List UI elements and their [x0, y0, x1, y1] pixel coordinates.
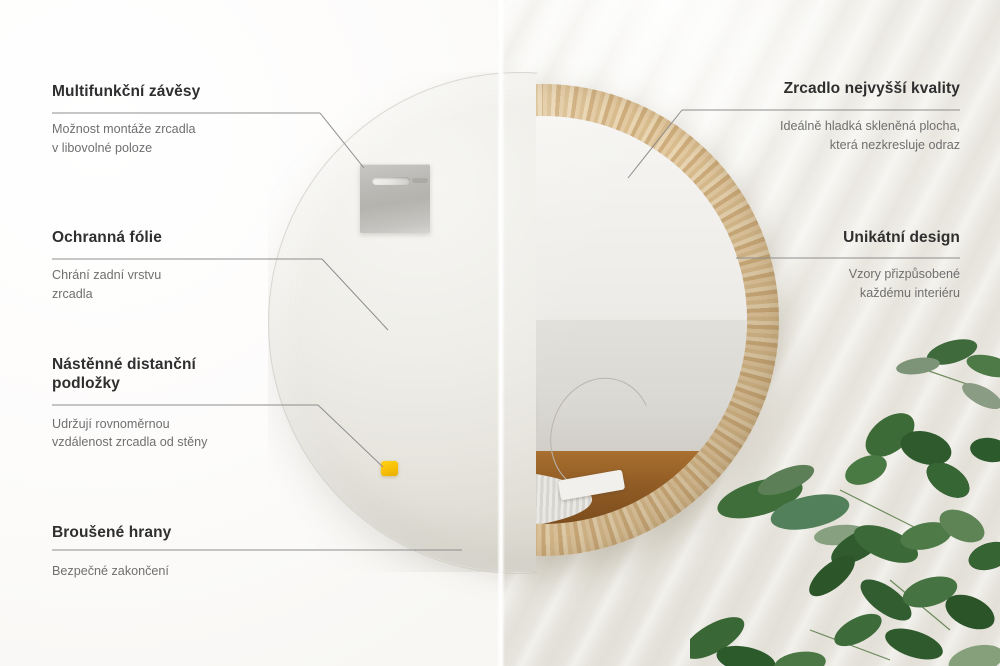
callout-body: Vzory přizpůsobené každému interiéru	[700, 265, 960, 302]
callout-body-line: zrcadla	[52, 287, 93, 301]
callout-title: Broušené hrany	[52, 523, 332, 542]
callout-body-line: která nezkresluje odraz	[830, 138, 960, 152]
callout-unikatni-design: Unikátní design Vzory přizpůsobené každé…	[700, 228, 960, 302]
callout-title: Ochranná fólie	[52, 228, 322, 247]
callout-zrcadlo-nejvyssi-kvality: Zrcadlo nejvyšší kvality Ideálně hladká …	[660, 79, 960, 154]
callout-title: Nástěnné distanční podložky	[52, 355, 332, 394]
callout-title-line: Nástěnné distanční	[52, 356, 196, 373]
callout-body: Bezpečné zakončení	[52, 562, 332, 580]
callout-body-line: Udržují rovnoměrnou	[52, 417, 170, 431]
callout-body: Ideálně hladká skleněná plocha, která ne…	[660, 117, 960, 154]
callout-body-line: Ideálně hladká skleněná plocha,	[780, 119, 960, 133]
callout-multifunkcni-zavesy: Multifunkční závěsy Možnost montáže zrca…	[52, 82, 322, 157]
callout-ochranna-folie: Ochranná fólie Chrání zadní vrstvu zrcad…	[52, 228, 322, 303]
callout-title-line: podložky	[52, 375, 120, 392]
callout-body-line: Chrání zadní vrstvu	[52, 268, 161, 282]
callout-body-line: vzdálenost zrcadla od stěny	[52, 435, 207, 449]
callout-title: Unikátní design	[700, 228, 960, 247]
callout-nastenne-distancni-podlozky: Nástěnné distanční podložky Udržují rovn…	[52, 355, 332, 451]
infographic-canvas: Multifunkční závěsy Možnost montáže zrca…	[0, 0, 1000, 666]
callout-body: Možnost montáže zrcadla v libovolné polo…	[52, 120, 322, 157]
callout-body-line: každému interiéru	[860, 286, 960, 300]
callout-title: Multifunkční závěsy	[52, 82, 322, 101]
callout-title: Zrcadlo nejvyšší kvality	[660, 79, 960, 98]
callout-body: Udržují rovnoměrnou vzdálenost zrcadla o…	[52, 415, 332, 452]
callout-body-line: Možnost montáže zrcadla	[52, 122, 196, 136]
callout-brousene-hrany: Broušené hrany Bezpečné zakončení	[52, 523, 332, 581]
callout-body-line: Vzory přizpůsobené	[849, 267, 960, 281]
callout-body-line: Bezpečné zakončení	[52, 564, 169, 578]
callout-body: Chrání zadní vrstvu zrcadla	[52, 266, 322, 303]
callout-body-line: v libovolné poloze	[52, 141, 152, 155]
